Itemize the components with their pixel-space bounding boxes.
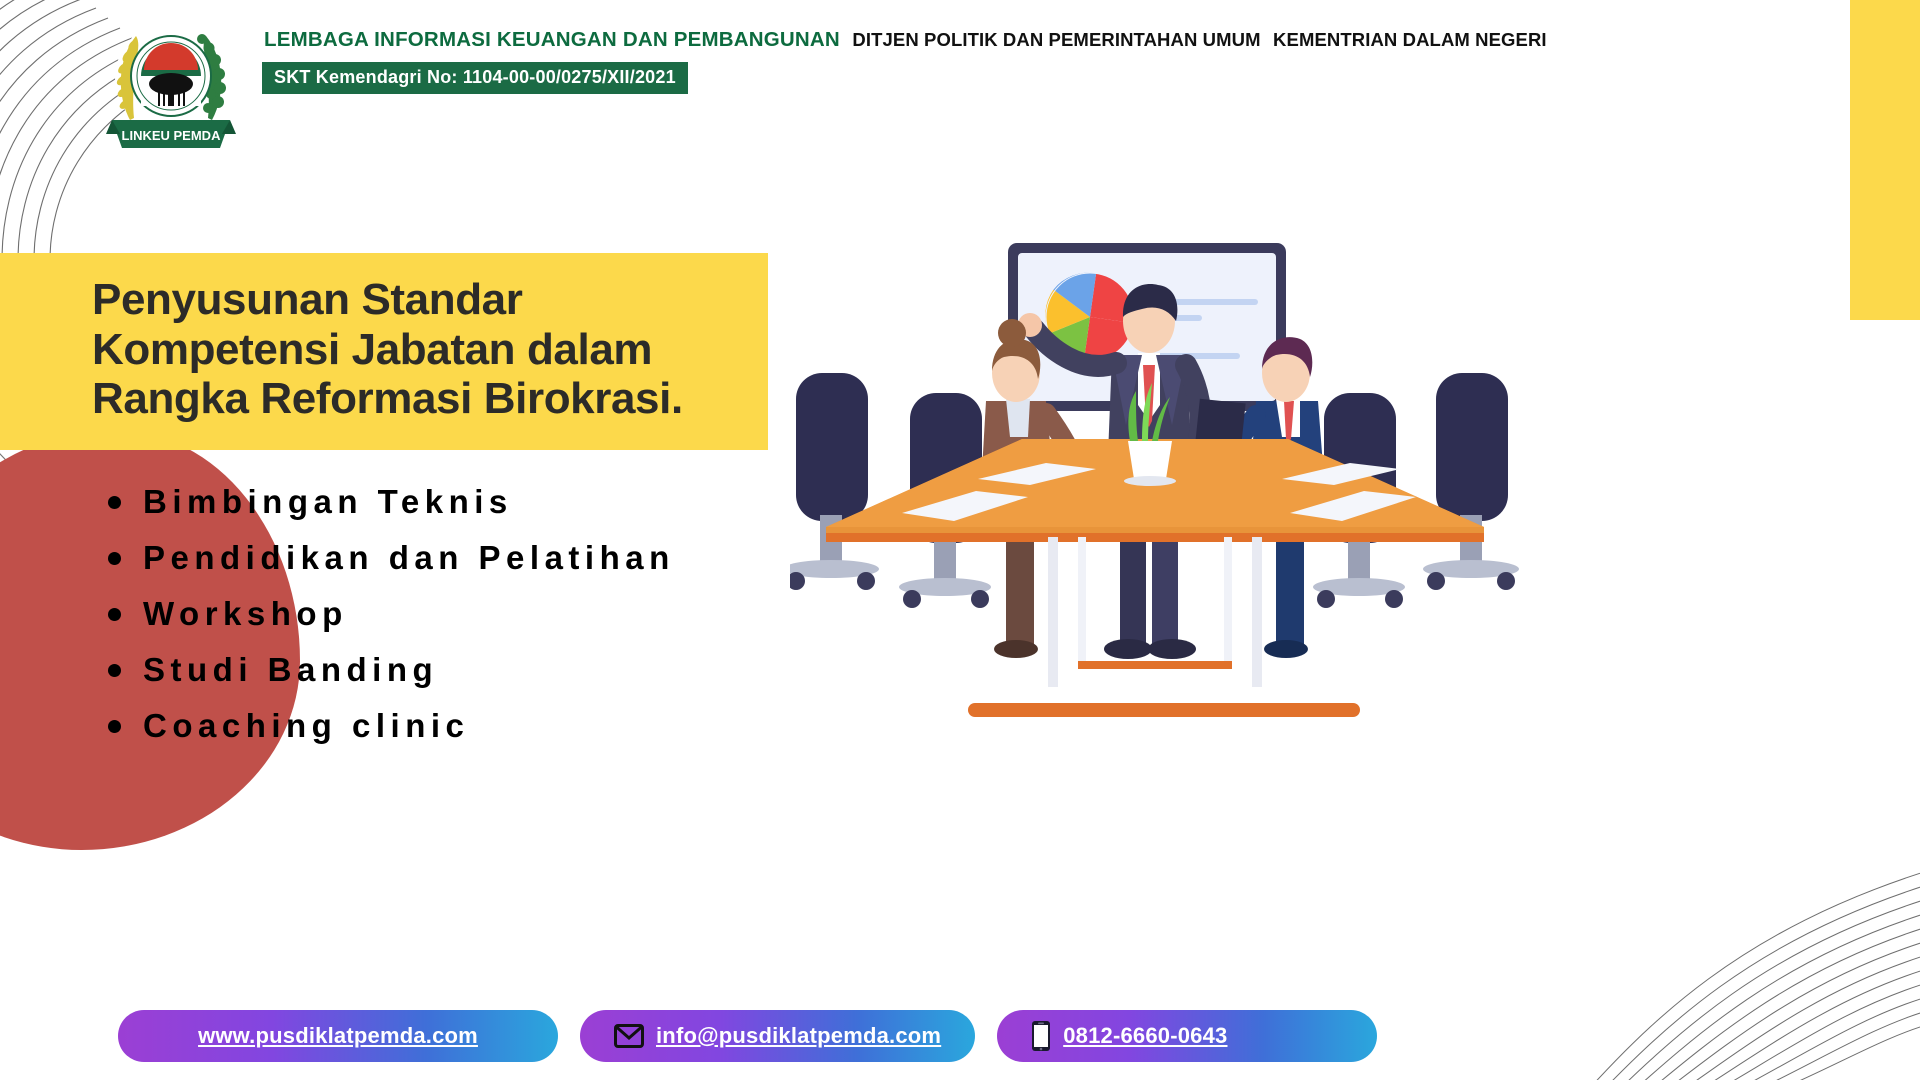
poster-canvas: LINKEU PEMDA LEMBAGA INFORMASI KEUANGAN … (0, 0, 1920, 1080)
bullet-dot-icon (108, 720, 121, 733)
envelope-icon (614, 1024, 644, 1048)
title-banner: Penyusunan Standar Kompetensi Jabatan da… (0, 253, 768, 450)
email-label: info@pusdiklatpemda.com (656, 1023, 941, 1049)
list-item-label: Bimbingan Teknis (143, 483, 513, 521)
page-title: Penyusunan Standar Kompetensi Jabatan da… (92, 275, 738, 424)
phone-pill[interactable]: 0812-6660-0643 (997, 1010, 1377, 1062)
decorative-lines-bottom-right (1570, 780, 1920, 1080)
skt-license-badge: SKT Kemendagri No: 1104-00-00/0275/XII/2… (260, 60, 690, 96)
business-meeting-illustration (790, 225, 1520, 745)
service-list: Bimbingan Teknis Pendidikan dan Pelatiha… (108, 483, 675, 763)
bullet-dot-icon (108, 608, 121, 621)
office-chair (1423, 373, 1519, 590)
mobile-phone-icon (1031, 1020, 1051, 1052)
bullet-dot-icon (108, 552, 121, 565)
list-item: Pendidikan dan Pelatihan (108, 539, 675, 577)
title-line-1: Penyusunan Standar (92, 275, 738, 325)
organization-header: LINKEU PEMDA LEMBAGA INFORMASI KEUANGAN … (96, 8, 1920, 158)
title-line-3: Rangka Reformasi Birokrasi. (92, 374, 738, 424)
list-item-label: Pendidikan dan Pelatihan (143, 539, 675, 577)
org-name-line-2: DITJEN POLITIK DAN PEMERINTAHAN UMUM (848, 28, 1264, 52)
website-pill[interactable]: www.pusdiklatpemda.com (118, 1010, 558, 1062)
list-item-label: Coaching clinic (143, 707, 469, 745)
list-item-label: Workshop (143, 595, 348, 633)
bullet-dot-icon (108, 664, 121, 677)
list-item: Coaching clinic (108, 707, 675, 745)
website-label: www.pusdiklatpemda.com (198, 1023, 478, 1049)
title-line-2: Kompetensi Jabatan dalam (92, 325, 738, 375)
logo-ribbon-text: LINKEU PEMDA (122, 128, 222, 143)
org-name-line-1: LEMBAGA INFORMASI KEUANGAN DAN PEMBANGUN… (260, 27, 844, 53)
email-pill[interactable]: info@pusdiklatpemda.com (580, 1010, 975, 1062)
phone-label: 0812-6660-0643 (1063, 1023, 1227, 1049)
bullet-dot-icon (108, 496, 121, 509)
list-item: Bimbingan Teknis (108, 483, 675, 521)
office-chair (790, 373, 879, 590)
header-text-group: LEMBAGA INFORMASI KEUANGAN DAN PEMBANGUN… (260, 8, 1920, 96)
list-item-label: Studi Banding (143, 651, 438, 689)
list-item: Studi Banding (108, 651, 675, 689)
org-name-line-3: KEMENTRIAN DALAM NEGERI (1269, 28, 1551, 52)
contact-footer: www.pusdiklatpemda.com info@pusdiklatpem… (118, 1010, 1377, 1062)
ministry-seal-logo: LINKEU PEMDA (96, 8, 246, 158)
list-item: Workshop (108, 595, 675, 633)
